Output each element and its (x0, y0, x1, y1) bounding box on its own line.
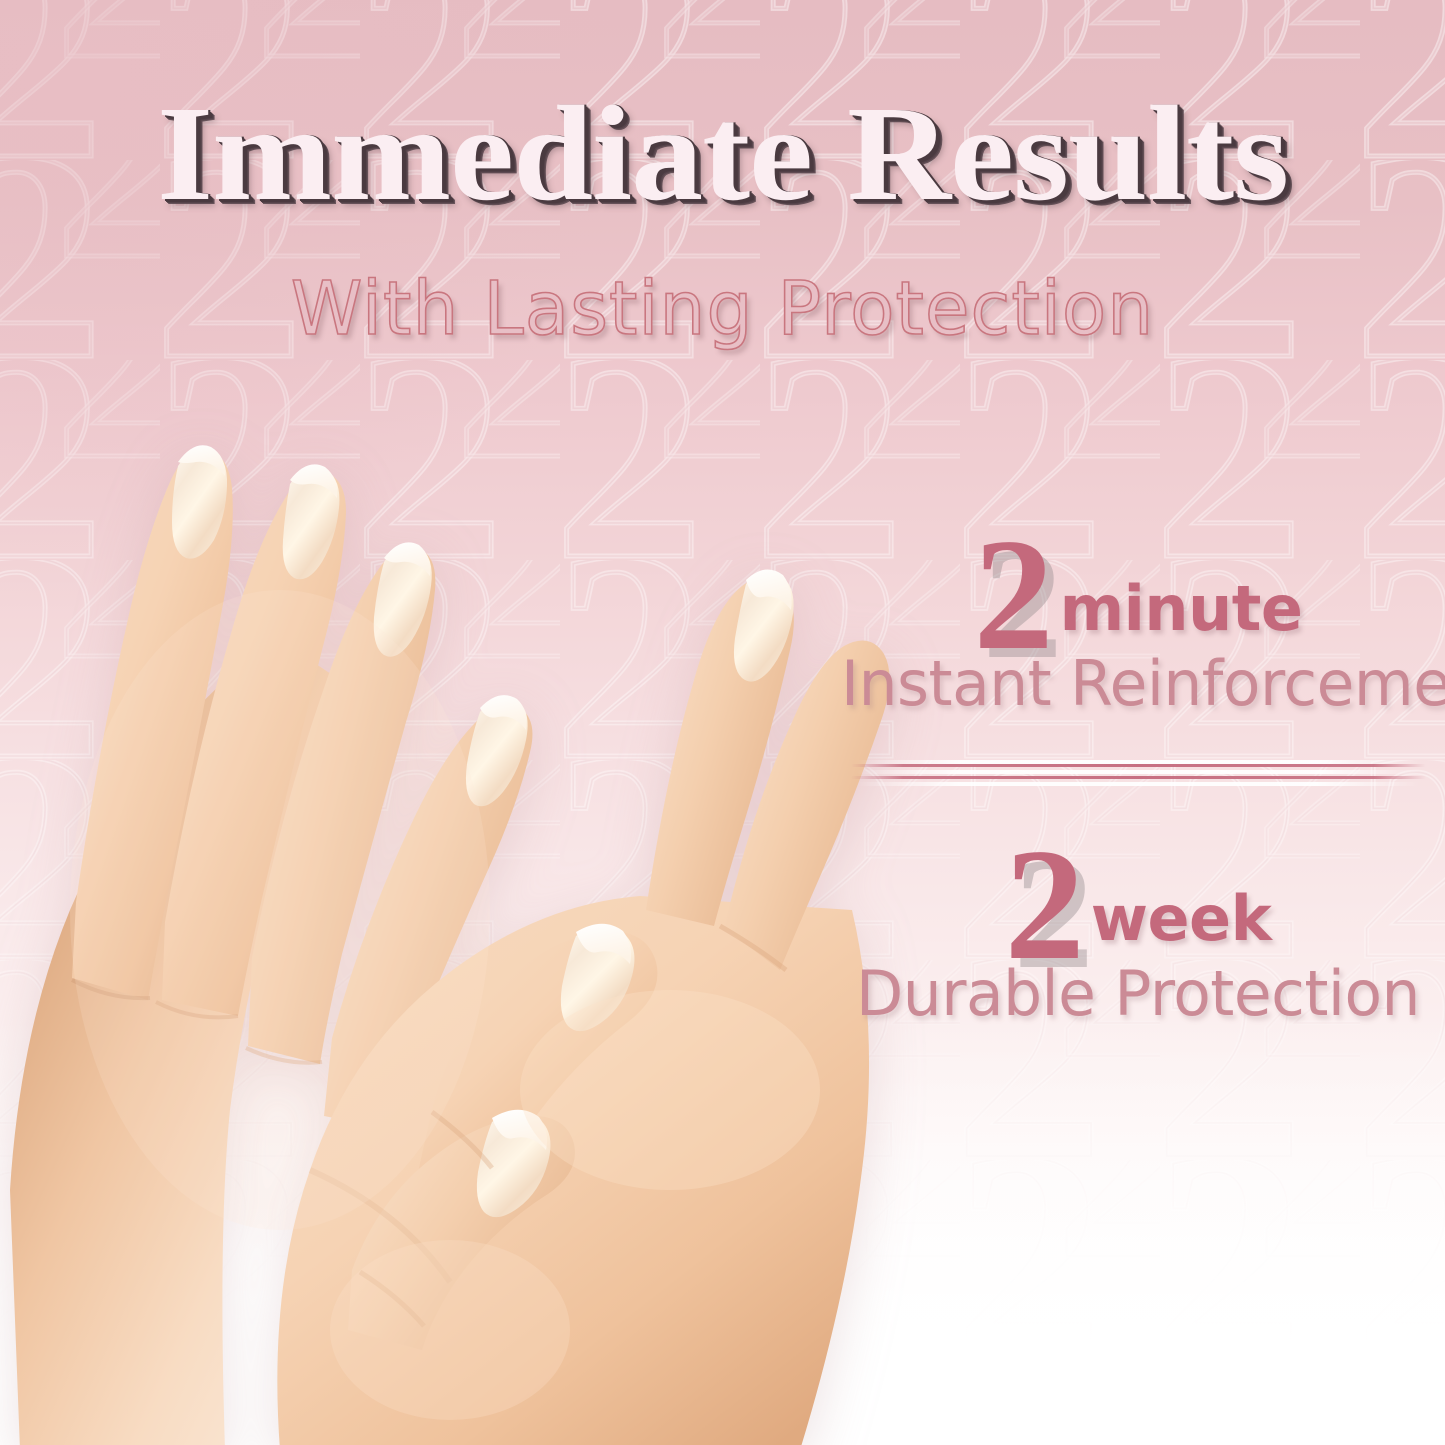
divider-line-top (851, 764, 1426, 767)
stat-number: 2 (1005, 836, 1085, 974)
section-divider (851, 760, 1426, 790)
stat-description: Durable Protection (841, 962, 1435, 1026)
stats-column: 2 minute Instant Reinforcement 2 week Du… (838, 520, 1438, 1026)
stat-row: 2 minute (838, 520, 1438, 658)
stat-row: 2 week (838, 830, 1438, 968)
page-title: Immediate Results (157, 86, 1288, 222)
stat-description: Instant Reinforcement (841, 652, 1435, 716)
divider-line-bottom (851, 776, 1426, 779)
page-subtitle: With Lasting Protection (291, 272, 1154, 346)
stat-block-durable-protection: 2 week Durable Protection (838, 830, 1438, 1026)
product-feature-poster: 2 2 (0, 0, 1445, 1445)
headline-container: Immediate Results (0, 86, 1445, 222)
stat-unit: week (1091, 888, 1272, 968)
divider-highlight-middle (857, 770, 1420, 774)
stat-number: 2 (974, 526, 1054, 664)
divider-highlight-bottom (857, 782, 1420, 786)
stat-unit: minute (1060, 578, 1303, 658)
subheadline-container: With Lasting Protection (0, 272, 1445, 346)
hands-photo (0, 210, 940, 1445)
stat-block-instant-reinforcement: 2 minute Instant Reinforcement (838, 520, 1438, 716)
